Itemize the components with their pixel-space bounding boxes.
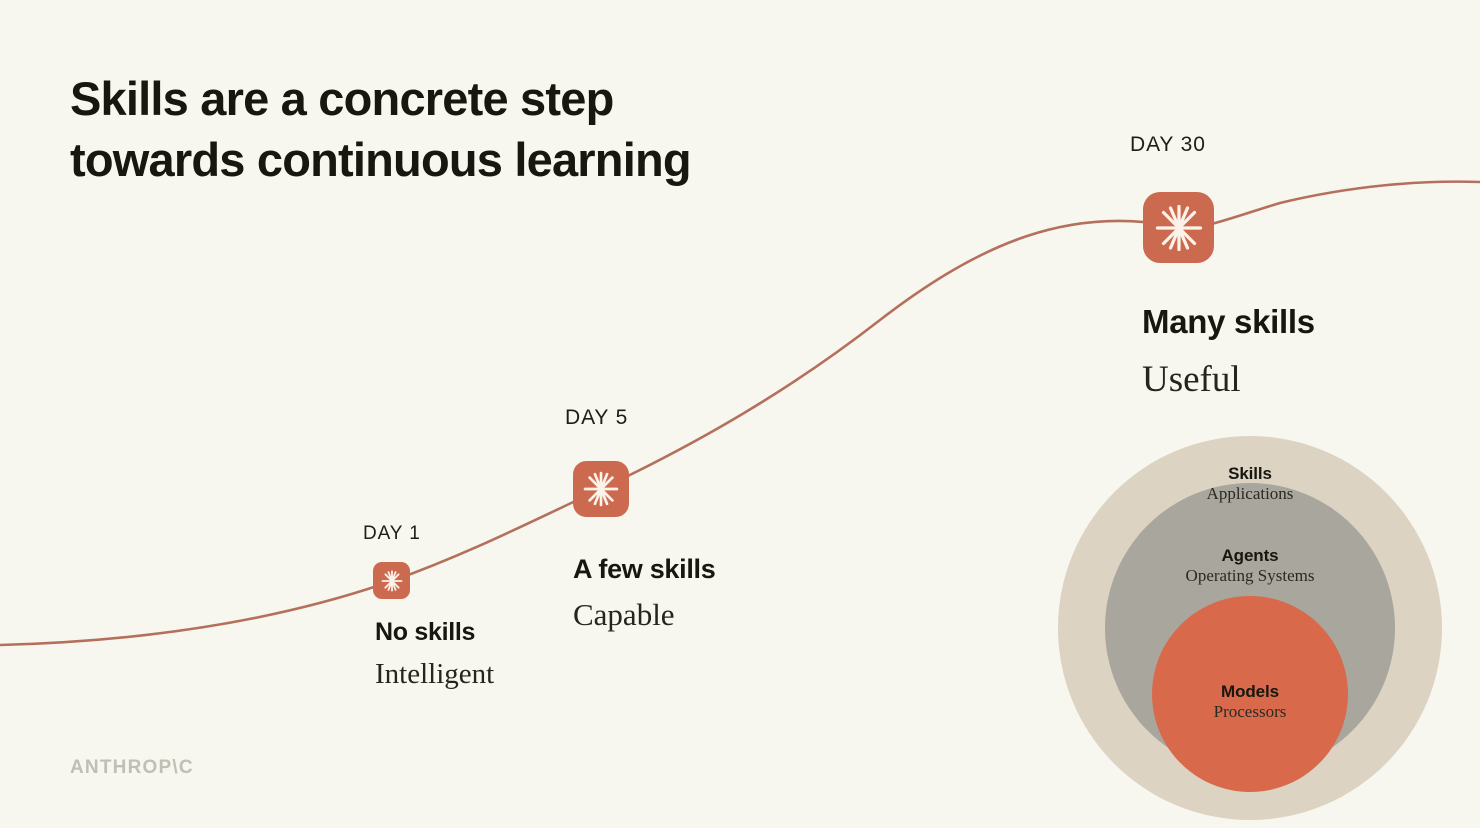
ring-label-skills: Skills Applications — [1058, 464, 1442, 504]
milestone-subtitle: Useful — [1142, 358, 1241, 401]
milestone-title: A few skills — [573, 554, 715, 585]
ring-label-agents: Agents Operating Systems — [1058, 546, 1442, 586]
stack-diagram: Skills Applications Agents Operating Sys… — [1058, 436, 1442, 820]
anthropic-burst-icon — [1143, 192, 1214, 263]
ring-title: Skills — [1058, 464, 1442, 484]
milestone-title: No skills — [375, 618, 475, 647]
milestone-day-label: DAY 5 — [565, 406, 628, 430]
ring-title: Models — [1058, 682, 1442, 702]
slide-canvas: Skills are a concrete step towards conti… — [0, 0, 1480, 828]
anthropic-burst-icon — [373, 562, 410, 599]
anthropic-burst-icon — [573, 461, 629, 517]
anthropic-burst-glyph — [582, 470, 620, 508]
anthropic-burst-glyph — [380, 569, 404, 593]
ring-label-models: Models Processors — [1058, 682, 1442, 722]
milestone-title: Many skills — [1142, 303, 1315, 341]
milestone-day-label: DAY 1 — [363, 523, 421, 545]
anthropic-burst-glyph — [1154, 203, 1204, 253]
ring-title: Agents — [1058, 546, 1442, 566]
anthropic-wordmark: ANTHROP\C — [70, 757, 194, 779]
milestone-subtitle: Intelligent — [375, 658, 494, 691]
ring-subtitle: Operating Systems — [1058, 566, 1442, 586]
milestone-subtitle: Capable — [573, 597, 675, 633]
ring-subtitle: Applications — [1058, 484, 1442, 504]
ring-subtitle: Processors — [1058, 702, 1442, 722]
milestone-day-label: DAY 30 — [1130, 133, 1206, 157]
